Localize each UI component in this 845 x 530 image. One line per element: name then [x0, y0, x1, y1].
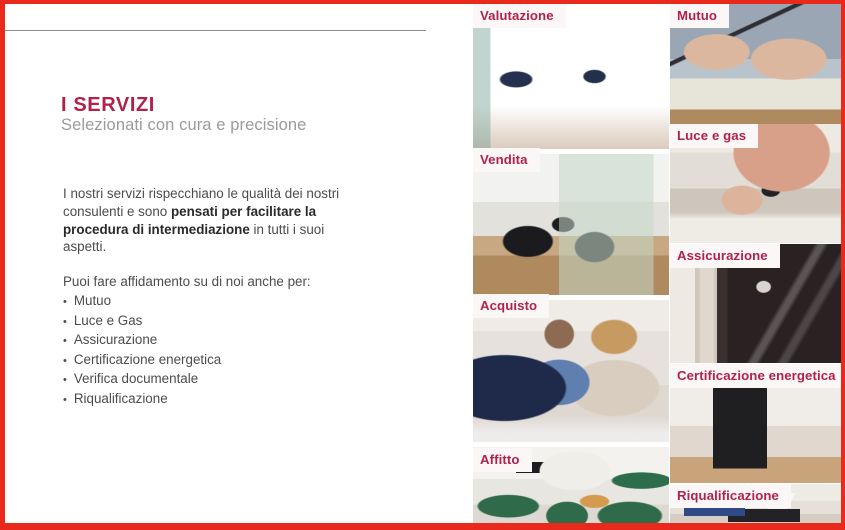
lead-in-text: Puoi fare affidamento su di noi anche pe… — [63, 273, 393, 291]
list-item: Mutuo — [63, 292, 221, 312]
brochure-page: I SERVIZI Selezionati con cura e precisi… — [0, 0, 845, 530]
gallery-item-acquisto — [473, 300, 669, 442]
list-item: Certificazione energetica — [63, 351, 221, 371]
gallery-tag-luce-e-gas: Luce e gas — [670, 124, 758, 148]
gallery-column-right: Mutuo Luce e gas Assicurazione Certifica… — [670, 0, 845, 530]
gallery-tag-certificazione-energetica: Certificazione energetica — [670, 364, 845, 388]
gallery-tag-acquisto: Acquisto — [473, 294, 549, 318]
gallery-tag-mutuo: Mutuo — [670, 4, 729, 28]
gallery-column-middle: Valutazione Vendita Acquisto Affitto — [473, 0, 669, 530]
list-item: Riqualificazione — [63, 390, 221, 410]
services-list: Mutuo Luce e Gas Assicurazione Certifica… — [63, 292, 221, 410]
couple-signing-documents-with-agent-photo — [473, 300, 669, 442]
gallery-item-vendita — [473, 154, 669, 295]
gallery-tag-affitto: Affitto — [473, 448, 532, 472]
header-divider — [4, 30, 426, 31]
list-item: Assicurazione — [63, 331, 221, 351]
gallery-tag-valutazione: Valutazione — [473, 4, 566, 28]
list-item: Verifica documentale — [63, 370, 221, 390]
modern-interior-with-black-armchairs-photo — [473, 154, 669, 295]
gallery-tag-vendita: Vendita — [473, 148, 540, 172]
intro-paragraph: I nostri servizi rispecchiano le qualità… — [63, 185, 365, 255]
page-title: I SERVIZI — [61, 94, 155, 117]
gallery-tag-assicurazione: Assicurazione — [670, 244, 780, 268]
photo-gallery: Valutazione Vendita Acquisto Affitto Mut… — [468, 0, 845, 530]
text-column: I SERVIZI Selezionati con cura e precisi… — [5, 4, 468, 523]
page-subtitle: Selezionati con cura e precisione — [61, 116, 306, 135]
list-item: Luce e Gas — [63, 312, 221, 332]
gallery-tag-riqualificazione: Riqualificazione — [670, 484, 791, 508]
